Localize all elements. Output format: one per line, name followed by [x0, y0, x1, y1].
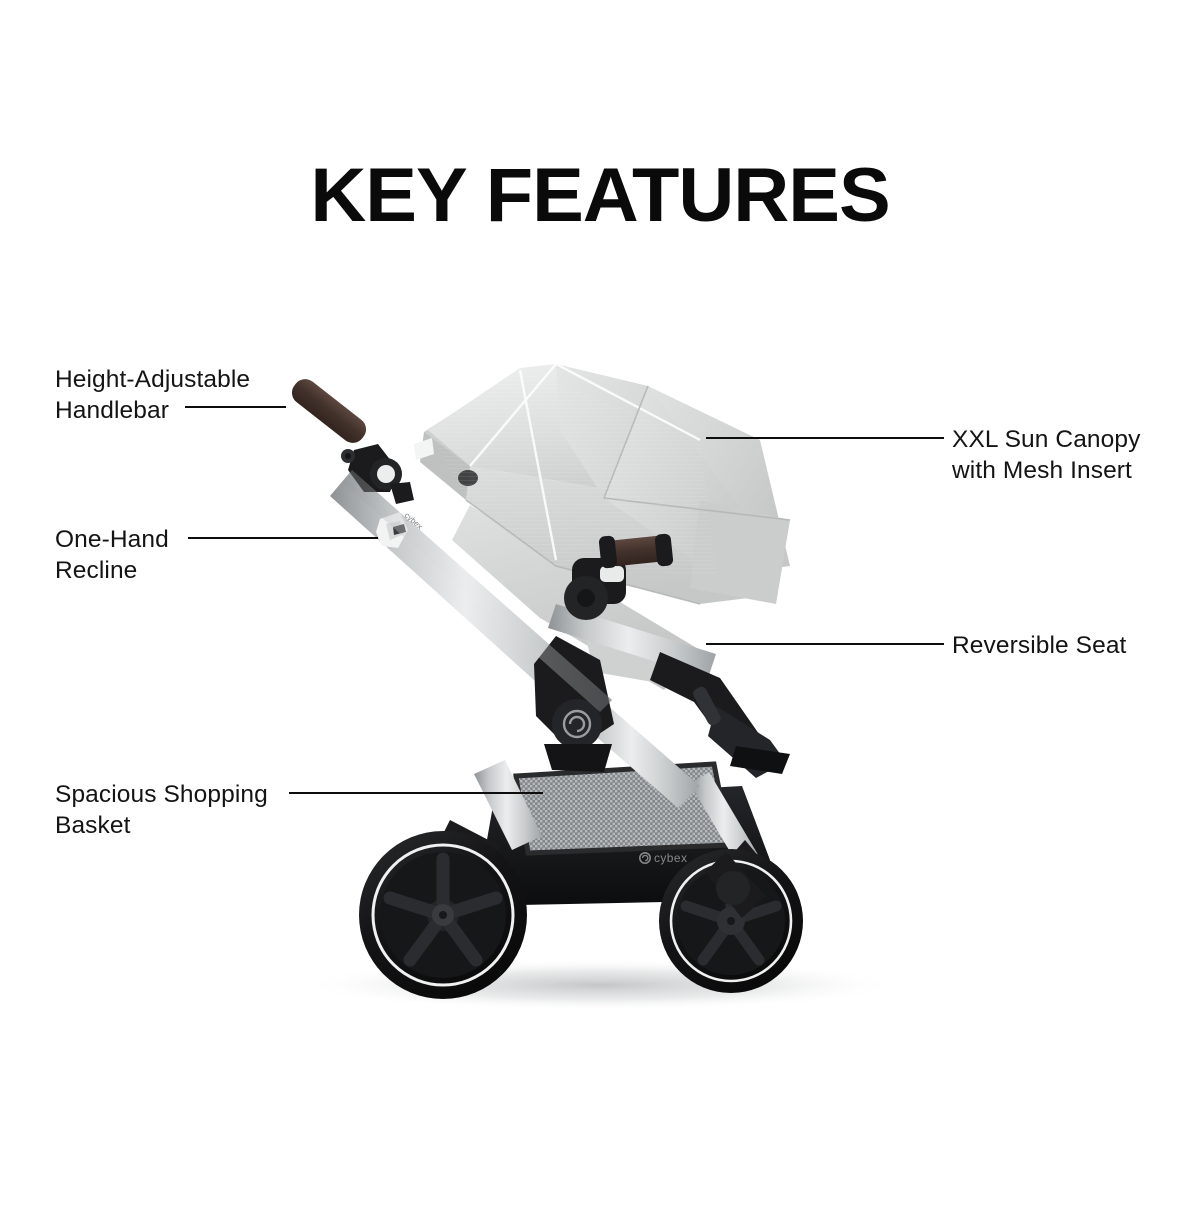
- infographic-canvas: KEY FEATURES: [0, 0, 1200, 1200]
- callout-xxl-sun-canopy: XXL Sun Canopy with Mesh Insert: [952, 424, 1140, 486]
- leader-line-basket: [289, 792, 543, 794]
- callout-spacious-shopping-basket: Spacious Shopping Basket: [55, 779, 268, 841]
- handlebar-grip: [287, 374, 371, 447]
- callout-line: Handlebar: [55, 395, 250, 426]
- callout-reversible-seat: Reversible Seat: [952, 630, 1126, 661]
- callout-line: Height-Adjustable: [55, 364, 250, 395]
- svg-text:cybex: cybex: [654, 851, 687, 865]
- stroller-vector: cybex: [0, 0, 1200, 1200]
- callout-line: with Mesh Insert: [952, 455, 1140, 486]
- leader-line-seat: [706, 643, 944, 645]
- callout-line: XXL Sun Canopy: [952, 424, 1140, 455]
- callout-line: Basket: [55, 810, 268, 841]
- callout-line: Reversible Seat: [952, 630, 1126, 661]
- bumper-bar-leather: [598, 533, 673, 568]
- basket-mesh-panel: [516, 764, 730, 853]
- leader-line-handlebar: [185, 406, 286, 408]
- product-illustration: cybex: [0, 0, 1200, 1200]
- leader-line-recline: [188, 537, 378, 539]
- callout-line: One-Hand: [55, 524, 169, 555]
- leader-line-canopy: [706, 437, 944, 439]
- front-wheel: [359, 831, 527, 999]
- footrest: [650, 652, 790, 778]
- callout-one-hand-recline: One-Hand Recline: [55, 524, 169, 586]
- callout-line: Recline: [55, 555, 169, 586]
- callout-line: Spacious Shopping: [55, 779, 268, 810]
- callout-height-adjustable-handlebar: Height-Adjustable Handlebar: [55, 364, 250, 426]
